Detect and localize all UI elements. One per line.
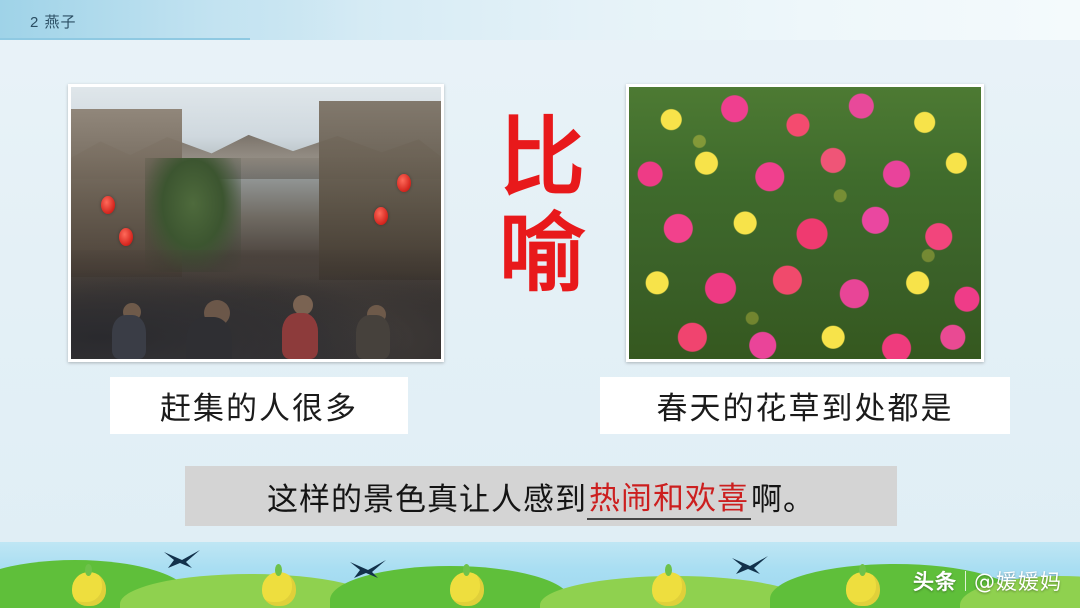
footer-decoration-band: 头条 @媛媛妈 — [0, 542, 1080, 608]
swallow-icon — [348, 558, 388, 580]
sprout-icon — [463, 564, 470, 576]
swallow-icon — [162, 548, 202, 570]
brand-divider — [965, 571, 966, 591]
bush-icon — [846, 572, 880, 606]
bush-icon — [450, 572, 484, 606]
sentence-bar: 这样的景色真让人感到热闹和欢喜啊。 — [185, 466, 897, 526]
sprout-icon — [275, 564, 282, 576]
brand-handle-text: @媛媛妈 — [974, 566, 1062, 596]
caption-right: 春天的花草到处都是 — [600, 377, 1010, 434]
keyword-bi-yu: 比 喻 — [478, 110, 608, 302]
sentence-highlight: 热闹和欢喜 — [587, 473, 751, 520]
keyword-char-2: 喻 — [478, 206, 608, 302]
bush-icon — [72, 572, 106, 606]
slide-root: 2 燕子 比 喻 赶集 — [0, 0, 1080, 608]
caption-left: 赶集的人很多 — [110, 377, 408, 434]
person-body — [356, 315, 390, 359]
page-title: 2 燕子 — [30, 11, 77, 32]
flower-field-graphic — [629, 87, 981, 359]
lantern-icon — [397, 174, 411, 192]
header-underline — [0, 38, 250, 40]
watermark-brand: 头条 @媛媛妈 — [913, 566, 1062, 596]
street-scene-graphic — [71, 87, 441, 359]
keyword-char-1: 比 — [478, 110, 608, 206]
person-body — [282, 313, 318, 359]
street-market-photo — [68, 84, 444, 362]
brand-logo-text: 头条 — [913, 566, 957, 596]
sprout-icon — [665, 564, 672, 576]
bush-icon — [262, 572, 296, 606]
spring-flowers-photo — [626, 84, 984, 362]
bush-icon — [652, 572, 686, 606]
sprout-icon — [85, 564, 92, 576]
sentence-suffix: 啊。 — [751, 474, 815, 519]
swallow-icon — [730, 554, 770, 576]
sprout-icon — [859, 564, 866, 576]
header-band: 2 燕子 — [0, 0, 1080, 40]
sentence-prefix: 这样的景色真让人感到 — [267, 474, 587, 519]
person-body — [186, 317, 232, 362]
person-body — [112, 315, 146, 359]
lantern-icon — [101, 196, 115, 214]
